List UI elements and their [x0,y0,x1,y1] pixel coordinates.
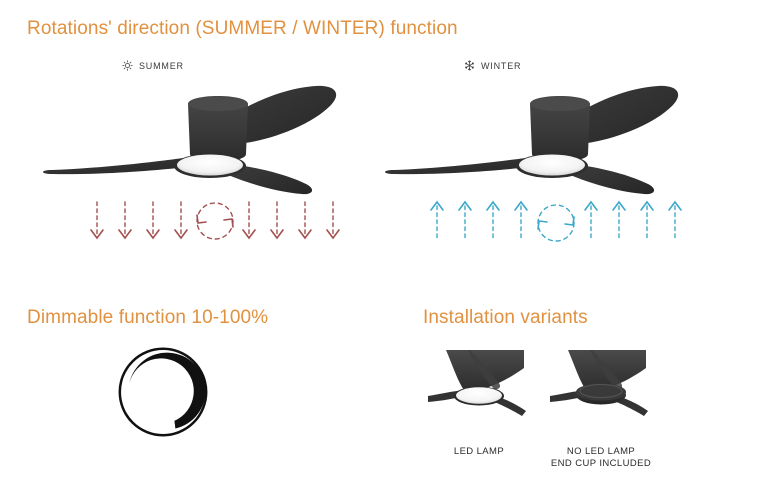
rotation-circle-icon-summer [197,203,233,239]
mode-label-summer-text: SUMMER [139,61,184,71]
fan-closeup-endcup-icon [546,348,656,420]
mode-label-summer: SUMMER [122,60,184,71]
mode-label-winter-text: WINTER [481,61,521,71]
dimmer-dial-icon [115,344,211,440]
installation-variant-caption-no-led: NO LED LAMP END CUP INCLUDED [546,446,656,470]
rotation-circle-icon-winter [538,205,574,241]
installation-variant-led-lamp: LED LAMP [424,348,534,458]
ceiling-fan-illustration-winter [372,82,712,202]
mode-label-winter: WINTER [464,60,521,71]
fan-closeup-led-icon [424,348,534,420]
page-title-rotations: Rotations' direction (SUMMER / WINTER) f… [27,18,458,40]
sun-icon [122,60,133,71]
installation-variant-caption-led: LED LAMP [424,446,534,458]
airflow-arrows-summer [85,198,345,250]
snowflake-icon [464,60,475,71]
airflow-arrows-winter [425,198,687,250]
page-title-dimmable: Dimmable function 10-100% [27,307,268,329]
installation-variant-no-led-lamp: NO LED LAMP END CUP INCLUDED [546,348,656,470]
ceiling-fan-illustration-summer [30,82,370,202]
page-title-installation: Installation variants [423,307,588,329]
